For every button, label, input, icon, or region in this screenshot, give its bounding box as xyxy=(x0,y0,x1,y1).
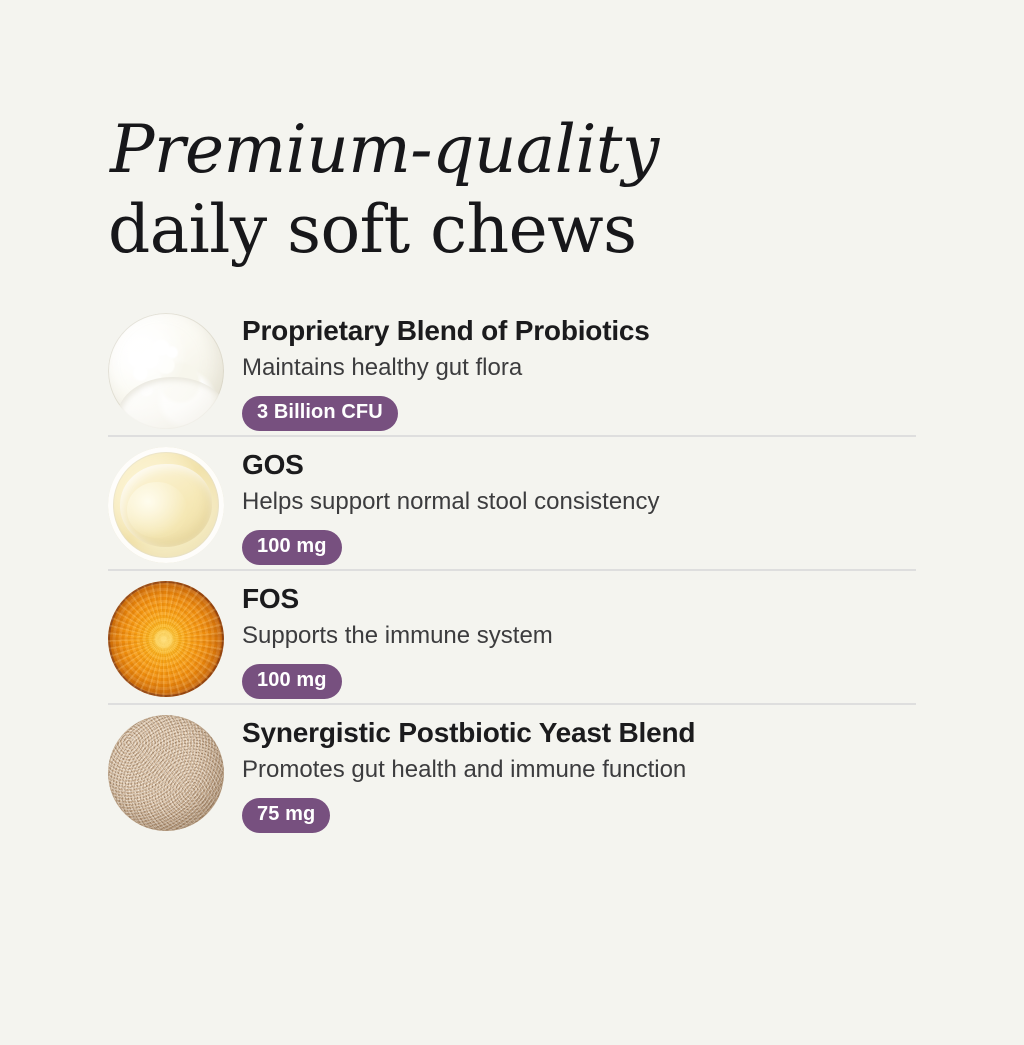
ingredient-thumbnail-wrap xyxy=(108,313,224,429)
dosage-badge: 75 mg xyxy=(242,798,330,833)
ingredient-subtitle: Promotes gut health and immune function xyxy=(242,756,916,785)
list-item: Synergistic Postbiotic Yeast Blend Promo… xyxy=(108,703,916,837)
ingredient-title: FOS xyxy=(242,583,916,614)
ingredient-subtitle: Supports the immune system xyxy=(242,622,916,651)
yeast-powder-thumbnail xyxy=(108,715,224,831)
page-title-line-2: daily soft chews xyxy=(108,197,916,263)
dosage-badge: 100 mg xyxy=(242,530,342,565)
ingredient-text-block: Proprietary Blend of Probiotics Maintain… xyxy=(242,303,916,430)
ingredient-title: GOS xyxy=(242,449,916,480)
ingredient-text-block: FOS Supports the immune system 100 mg xyxy=(242,571,916,698)
ingredient-subtitle: Helps support normal stool consistency xyxy=(242,488,916,517)
ingredient-text-block: Synergistic Postbiotic Yeast Blend Promo… xyxy=(242,705,916,832)
list-item: FOS Supports the immune system 100 mg xyxy=(108,569,916,703)
list-item: Proprietary Blend of Probiotics Maintain… xyxy=(108,303,916,435)
product-ingredients-panel: Premium-quality daily soft chews Proprie… xyxy=(0,21,1024,1045)
page-title-line-1: Premium-quality xyxy=(110,117,916,183)
dosage-badge: 3 Billion CFU xyxy=(242,396,398,431)
ingredient-thumbnail-wrap xyxy=(108,581,224,697)
ingredient-thumbnail-wrap xyxy=(108,715,224,831)
ingredient-list: Proprietary Blend of Probiotics Maintain… xyxy=(108,303,916,837)
ingredient-text-block: GOS Helps support normal stool consisten… xyxy=(242,437,916,564)
gos-cream-thumbnail xyxy=(108,447,224,563)
dosage-badge: 100 mg xyxy=(242,664,342,699)
ingredient-subtitle: Maintains healthy gut flora xyxy=(242,354,916,383)
fos-chicory-root-thumbnail xyxy=(108,581,224,697)
ingredient-thumbnail-wrap xyxy=(108,447,224,563)
probiotic-cream-thumbnail xyxy=(108,313,224,429)
page-title: Premium-quality daily soft chews xyxy=(108,21,916,263)
list-item: GOS Helps support normal stool consisten… xyxy=(108,435,916,569)
ingredient-title: Proprietary Blend of Probiotics xyxy=(242,315,916,346)
ingredient-title: Synergistic Postbiotic Yeast Blend xyxy=(242,717,916,748)
